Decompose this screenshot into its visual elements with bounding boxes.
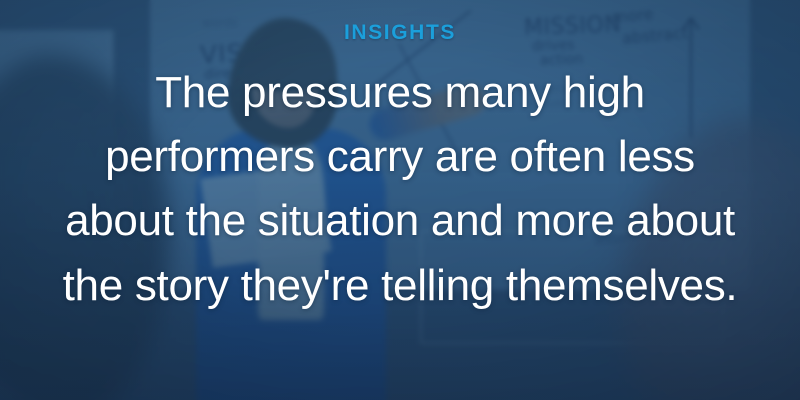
insights-quote-card: words VISION directs us MISSION drives a… xyxy=(0,0,800,400)
quote-text: The pressures many highperformers carry … xyxy=(5,61,795,318)
quote-line-3: about the situation and more about xyxy=(5,189,795,253)
quote-line-2: performers carry are often less xyxy=(5,125,795,189)
insights-eyebrow-label: INSIGHTS xyxy=(344,22,456,43)
card-content: INSIGHTS The pressures many highperforme… xyxy=(0,0,800,400)
quote-line-1: The pressures many high xyxy=(5,61,795,125)
quote-line-4: the story they're telling themselves. xyxy=(5,254,795,318)
